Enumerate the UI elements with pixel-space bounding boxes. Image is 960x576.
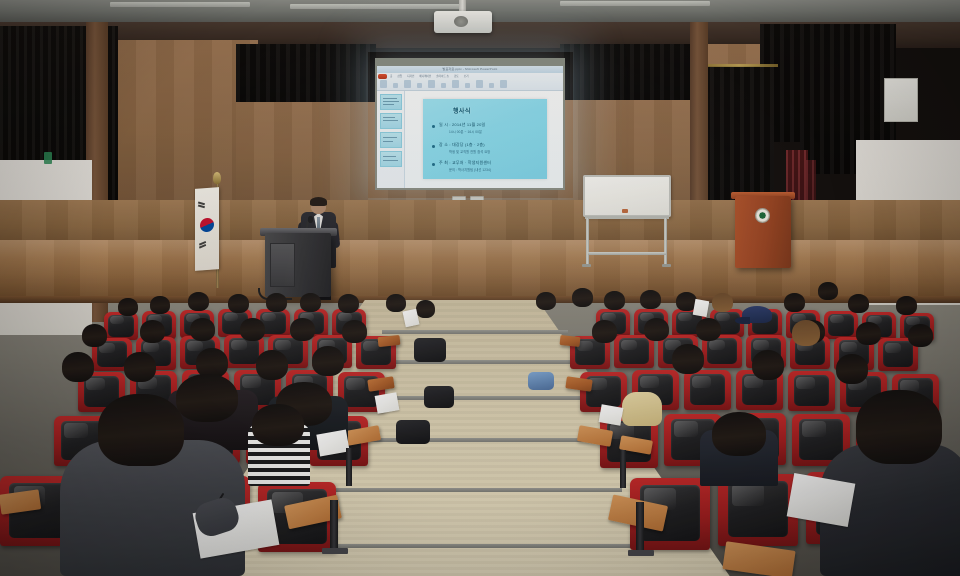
current-slide: 행사식 일 시 : 2014년 11월 20일 14시 00분 ~ 16시 00… [423,99,547,179]
aisle-step-5 [336,488,622,492]
audience-head-6 [300,293,321,312]
audience-head-7 [338,294,359,313]
stage-curtain-valance-left [236,44,376,102]
audience-head-41 [176,374,238,422]
whiteboard-tray [585,216,669,219]
slide-thumbnail-2[interactable] [380,113,402,129]
audience-head-16 [784,293,805,312]
aisle-step-1 [382,330,568,334]
taeguk-symbol-icon [200,218,214,233]
curtain-rail-gold [700,64,778,67]
audience-head-38 [752,350,784,380]
slide-thumbnail-pane[interactable] [377,91,405,188]
writing-tablet-R1[interactable] [560,335,581,347]
ribbon-tab-4[interactable]: 슬라이드 쇼 [436,74,449,78]
handout-sheet-3[interactable] [402,309,419,328]
audience-head-31 [908,324,933,347]
slide-editing-area[interactable]: 행사식 일 시 : 2014년 11월 20일 14시 00분 ~ 16시 00… [405,91,563,188]
audience-head-18 [848,294,869,313]
shoe-1 [528,372,554,390]
projection-screen: 발표자료.pptx - Microsoft PowerPoint 홈 삽입 디자… [377,66,563,188]
cut-icon[interactable] [393,83,398,88]
audience-head-35 [124,352,156,382]
audience-head-10 [536,292,556,310]
shapes-icon[interactable] [465,83,470,88]
aisle-step-4 [352,438,604,442]
green-wall-marker [44,152,52,164]
audience-head-15 [712,293,733,312]
whiteboard-foot-left [582,264,591,267]
powerpoint-ribbon: 홈 삽입 디자인 애니메이션 슬라이드 쇼 검토 보기 [377,73,563,91]
backpack-2[interactable] [424,386,454,408]
seat-post-R2 [636,502,644,554]
handout-sheet-7[interactable] [375,392,400,414]
new-slide-icon[interactable] [404,80,411,88]
audience-head-8 [386,294,406,312]
paste-icon[interactable] [380,80,387,88]
whiteboard-crossbar [588,252,666,255]
audience-head-22 [240,318,265,341]
presenter-hair [310,197,327,206]
slide-sub-3: 문의 : 학사지원팀 (내선 1234) [449,167,491,172]
slide-thumbnail-3[interactable] [380,132,402,148]
wooden-lectern [735,196,791,268]
font-icon[interactable] [428,80,435,88]
slide-bullet-2: 장 소 : 대강당 (1층 · 2층) [439,142,485,148]
audience-head-30 [856,322,881,345]
stage-curtain-right-inner [700,66,774,206]
slide-bullet-dot-2 [432,145,435,148]
audience-head-34 [312,346,344,376]
seat-R-C5[interactable] [788,371,835,411]
ribbon-tab-6[interactable]: 보기 [464,74,469,78]
seat-L-A1[interactable] [104,312,138,340]
ceiling-light-2 [290,4,460,9]
stage-front-face [0,200,960,244]
stage-curtain-valance-right [560,44,692,100]
ceiling-light-1 [110,2,250,7]
handout-sheet-4[interactable] [693,299,710,317]
seat-foot-L [322,548,348,554]
powerpoint-titlebar: 발표자료.pptx - Microsoft PowerPoint [377,66,563,73]
projector-lens-icon [454,16,468,27]
whiteboard-leg-right [664,218,667,266]
audience-head-28 [696,318,721,341]
slide-bullet-dot-1 [432,125,435,128]
bold-icon[interactable] [441,83,446,88]
audience-head-39 [792,320,820,346]
office-button-icon[interactable] [378,74,387,79]
audience-head-13 [640,290,661,309]
backpack-1[interactable] [414,338,446,362]
audience-head-1 [118,298,138,316]
audience-head-4 [228,294,249,313]
cap-brim-icon [735,317,750,324]
ribbon-tab-0[interactable]: 홈 [390,74,392,78]
audience-head-3 [188,292,209,311]
whiteboard-leg-left [586,218,589,266]
audience-head-23 [290,318,315,341]
slide-sub-2: 학생 및 교직원 전원 참석 요망 [449,149,490,154]
ribbon-tab-2[interactable]: 디자인 [407,74,414,78]
audience-head-19 [896,296,917,315]
aisle-step-6 [318,544,644,548]
wall-mounted-speaker [884,78,918,122]
audience-head-40 [836,354,868,384]
align-icon[interactable] [452,80,459,88]
seat-post-R1 [620,450,626,488]
audience-head-5 [266,293,287,312]
find-icon[interactable] [500,80,507,88]
wood-pillar-right [690,22,708,210]
ribbon-icon-row[interactable] [380,80,507,88]
seat-post-L1 [346,448,352,486]
seat-R-A7[interactable] [824,311,858,339]
slide-sub-1: 14시 00분 ~ 16시 00분 [449,129,482,134]
audience-head-45 [856,390,942,464]
quickstyle-icon[interactable] [489,83,494,88]
aisle-step-3 [364,396,590,400]
audience-head-12 [604,291,625,310]
audience-head-26 [592,320,617,343]
seat-R-B2[interactable] [614,335,654,368]
audience-head-25 [82,324,107,347]
audience-head-11 [572,288,593,307]
audience-head-17 [818,282,838,300]
ribbon-tab-5[interactable]: 검토 [454,74,459,78]
slide-bullet-1: 일 시 : 2014년 11월 20일 [439,122,485,128]
microphone-icon [308,216,313,223]
audience-head-36 [62,352,94,382]
audience-head-44 [98,394,184,466]
seat-foot-R [628,550,654,556]
audience-head-21 [190,318,215,341]
arrange-icon[interactable] [476,80,483,88]
seat-post-L2 [330,500,338,550]
audience-beige-item [622,392,662,426]
ceiling-light-3 [560,1,710,6]
handout-sheet-6[interactable] [599,404,624,426]
audience-head-2 [150,296,170,314]
audience-head-27 [644,318,669,341]
auditorium-scene: 발표자료.pptx - Microsoft PowerPoint 홈 삽입 디자… [0,0,960,576]
audience-head-20 [140,320,165,343]
slide-title: 행사식 [453,106,471,115]
institution-emblem-icon [755,208,770,223]
audience-head-46 [712,412,766,456]
slide-bullet-3: 주 최 : 교무처 · 학생지원센터 [439,160,491,166]
audience-head-43 [252,404,304,446]
ribbon-tabs[interactable]: 홈 삽입 디자인 애니메이션 슬라이드 쇼 검토 보기 [390,73,469,78]
stage-floor [0,240,960,302]
layout-icon[interactable] [417,83,422,88]
podium-panel [270,243,295,287]
whiteboard-marker-icon [622,209,628,213]
backpack-3[interactable] [396,420,430,444]
whiteboard-foot-right [662,264,671,267]
ribbon-tab-3[interactable]: 애니메이션 [419,74,431,78]
slide-thumbnail-4[interactable] [380,151,402,167]
powerpoint-title-text: 발표자료.pptx - Microsoft PowerPoint [443,67,498,71]
korean-flag [195,187,219,271]
audience-head-24 [342,320,367,343]
aisle-step-2 [374,360,578,364]
projector [434,11,492,33]
audience-head-9 [416,300,435,318]
seat-R-C3[interactable] [684,370,731,410]
slide-thumbnail-1[interactable] [380,94,402,110]
slide-bullet-dot-3 [432,163,435,166]
flag-finial-icon [213,172,221,184]
audience-head-37 [672,344,704,374]
ribbon-tab-1[interactable]: 삽입 [397,74,402,78]
audience-head-33 [256,350,288,380]
